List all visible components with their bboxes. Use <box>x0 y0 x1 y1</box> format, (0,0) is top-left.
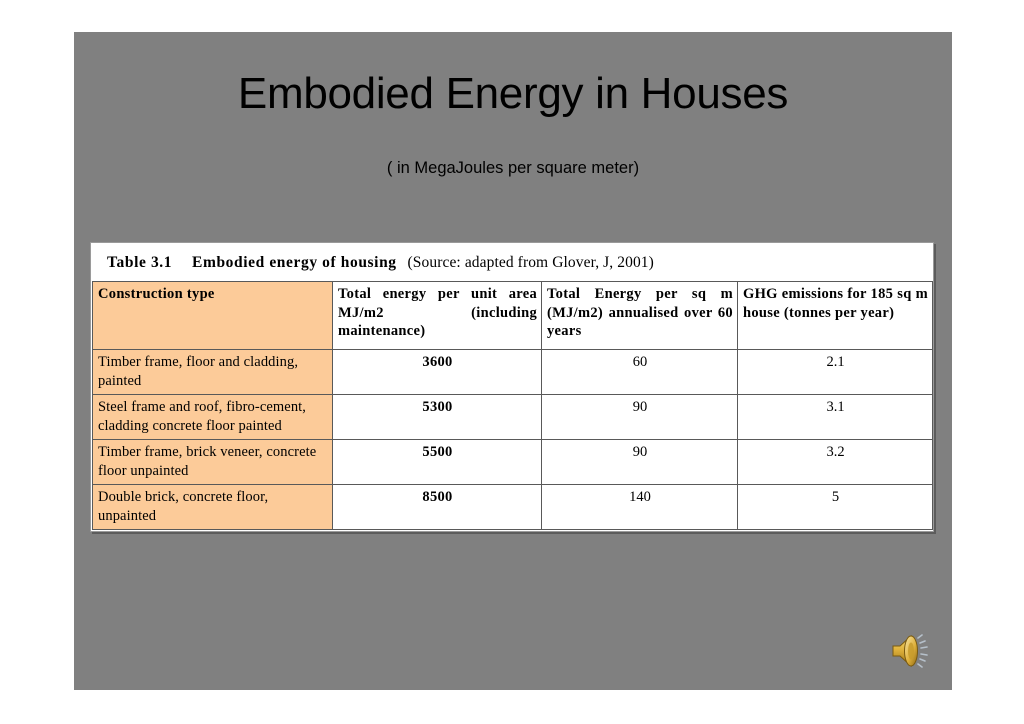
cell-ghg-emissions: 2.1 <box>738 350 933 395</box>
column-header-total-energy-annualised: Total Energy per sq m (MJ/m2) annualised… <box>542 282 738 350</box>
cell-total-energy-annualised: 60 <box>542 350 738 395</box>
table-row: Double brick, concrete floor, unpainted … <box>93 485 933 530</box>
table-row: Timber frame, brick veneer, concrete flo… <box>93 440 933 485</box>
slide-title: Embodied Energy in Houses <box>74 68 952 120</box>
embodied-energy-table-block: Table 3.1 Embodied energy of housing (So… <box>90 242 934 532</box>
presentation-slide: Embodied Energy in Houses ( in MegaJoule… <box>74 32 952 690</box>
cell-total-energy-per-unit-area: 3600 <box>333 350 542 395</box>
column-header-ghg-emissions: GHG emissions for 185 sq m house (tonnes… <box>738 282 933 350</box>
cell-total-energy-annualised: 90 <box>542 395 738 440</box>
cell-total-energy-per-unit-area: 8500 <box>333 485 542 530</box>
column-header-construction-type: Construction type <box>93 282 333 350</box>
slide-subtitle: ( in MegaJoules per square meter) <box>74 157 952 179</box>
cell-construction-type: Steel frame and roof, fibro-cement, clad… <box>93 395 333 440</box>
cell-total-energy-annualised: 90 <box>542 440 738 485</box>
cell-total-energy-annualised: 140 <box>542 485 738 530</box>
cell-ghg-emissions: 3.1 <box>738 395 933 440</box>
table-caption-title: Embodied energy of housing <box>176 254 397 271</box>
table-row: Steel frame and roof, fibro-cement, clad… <box>93 395 933 440</box>
cell-construction-type: Timber frame, brick veneer, concrete flo… <box>93 440 333 485</box>
embodied-energy-table: Construction type Total energy per unit … <box>92 281 933 530</box>
table-caption-source: (Source: adapted from Glover, J, 2001) <box>401 254 654 271</box>
table-header-row: Construction type Total energy per unit … <box>93 282 933 350</box>
cell-total-energy-per-unit-area: 5300 <box>333 395 542 440</box>
cell-ghg-emissions: 3.2 <box>738 440 933 485</box>
column-header-total-energy-per-unit-area: Total energy per unit area MJ/m2 (includ… <box>333 282 542 350</box>
cell-ghg-emissions: 5 <box>738 485 933 530</box>
cell-construction-type: Double brick, concrete floor, unpainted <box>93 485 333 530</box>
table-caption: Table 3.1 Embodied energy of housing (So… <box>91 243 933 281</box>
cell-total-energy-per-unit-area: 5500 <box>333 440 542 485</box>
cell-construction-type: Timber frame, floor and cladding, painte… <box>93 350 333 395</box>
table-row: Timber frame, floor and cladding, painte… <box>93 350 933 395</box>
speaker-icon[interactable] <box>889 632 935 670</box>
table-caption-label: Table 3.1 <box>107 254 172 271</box>
